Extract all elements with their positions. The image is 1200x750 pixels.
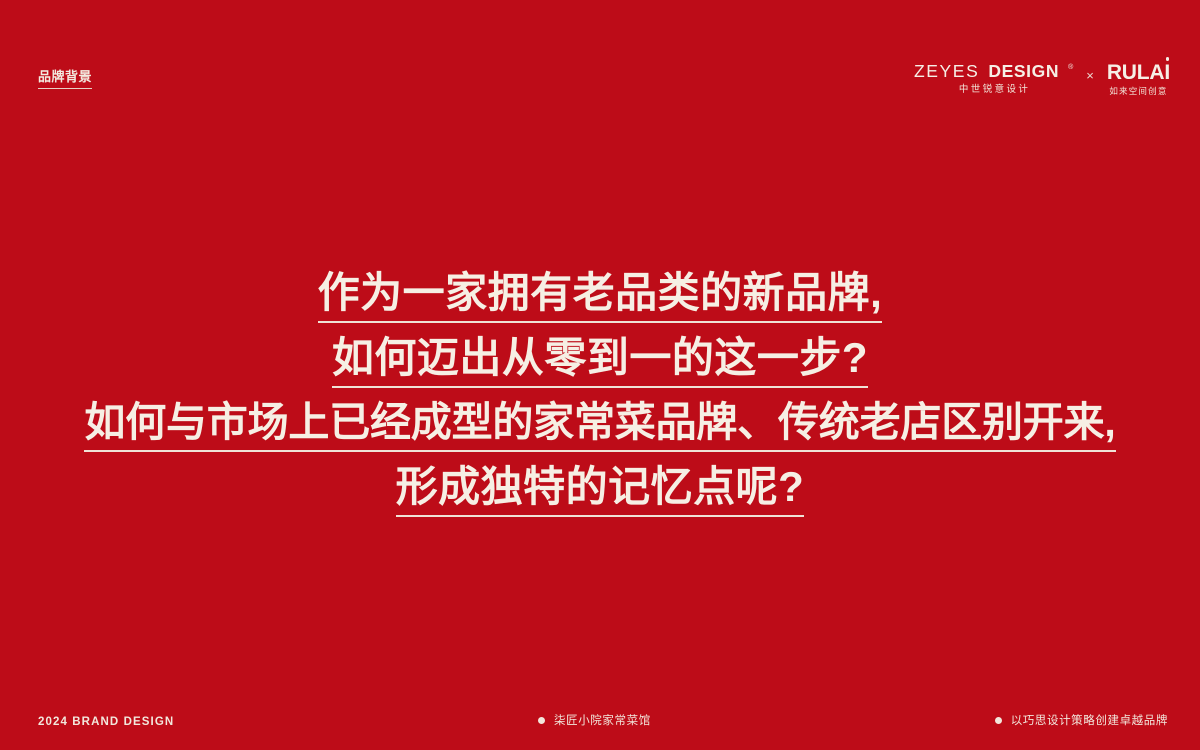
bullet-dot-icon (995, 717, 1002, 724)
rulai-dot-icon (1166, 57, 1170, 61)
zeyes-word: ZEYES (914, 63, 979, 81)
headline-line: 作为一家拥有老品类的新品牌, (0, 272, 1200, 323)
headline-line-1: 作为一家拥有老品类的新品牌, (318, 272, 883, 323)
headline-line-2: 如何迈出从零到一的这一步? (332, 337, 868, 388)
logo-separator-x-icon: × (1086, 68, 1094, 83)
zeyes-logo-wordmark: ZEYES DESIGN ® (914, 63, 1073, 81)
footer-client-name: 柒匠小院家常菜馆 (538, 712, 651, 728)
slide-root: 品牌背景 ZEYES DESIGN ® 中世锐意设计 × RULAI 如来空间创… (0, 0, 1200, 750)
rulai-logo-subtitle: 如来空间创意 (1109, 87, 1167, 96)
footer-copyright: 2024 BRAND DESIGN (38, 716, 174, 728)
brand-lockup: ZEYES DESIGN ® 中世锐意设计 × RULAI 如来空间创意 (914, 62, 1170, 96)
footer-tagline-label: 以巧思设计策略创建卓越品牌 (1011, 712, 1168, 728)
footer: 2024 BRAND DESIGN 柒匠小院家常菜馆 以巧思设计策略创建卓越品牌 (0, 660, 1200, 750)
footer-copyright-label: 2024 BRAND DESIGN (38, 716, 174, 728)
headline-line: 形成独特的记忆点呢? (0, 466, 1200, 517)
footer-client-label: 柒匠小院家常菜馆 (554, 712, 651, 728)
headline-line-3: 如何与市场上已经成型的家常菜品牌、传统老店区别开来, (84, 402, 1115, 452)
rulai-logo: RULAI 如来空间创意 (1107, 62, 1170, 96)
zeyes-logo-subtitle: 中世锐意设计 (957, 85, 1030, 95)
design-word: DESIGN (988, 63, 1059, 81)
zeyes-design-logo: ZEYES DESIGN ® 中世锐意设计 (914, 63, 1073, 94)
headline-block: 作为一家拥有老品类的新品牌, 如何迈出从零到一的这一步? 如何与市场上已经成型的… (0, 272, 1200, 517)
rulai-wordmark: RULAI (1107, 62, 1170, 83)
headline-line-4: 形成独特的记忆点呢? (396, 466, 805, 517)
bullet-dot-icon (538, 717, 545, 724)
footer-tagline: 以巧思设计策略创建卓越品牌 (995, 712, 1168, 728)
registered-trademark-icon: ® (1068, 64, 1073, 71)
section-label: 品牌背景 (38, 70, 92, 89)
headline-line: 如何迈出从零到一的这一步? (0, 337, 1200, 388)
headline-line: 如何与市场上已经成型的家常菜品牌、传统老店区别开来, (0, 402, 1200, 452)
